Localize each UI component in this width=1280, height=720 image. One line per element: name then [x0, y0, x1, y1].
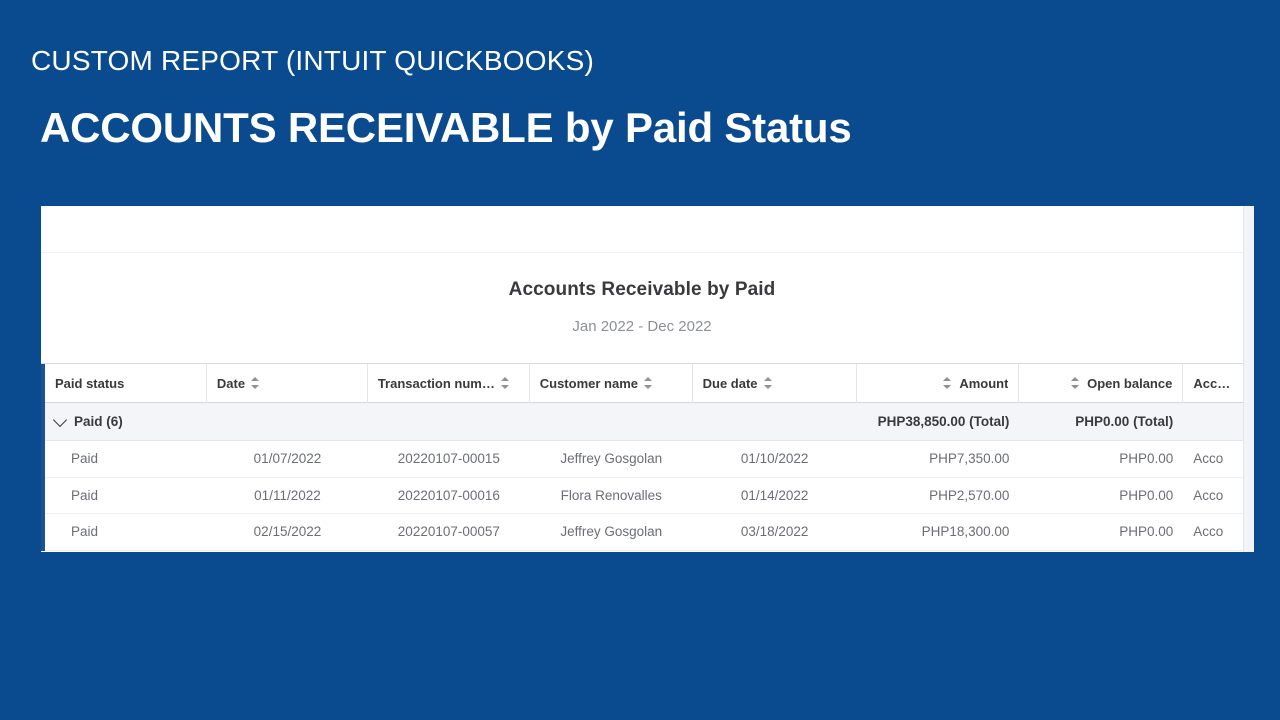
group-toggle[interactable]: Paid (6): [45, 403, 207, 441]
cell-account: Acco: [1183, 514, 1243, 551]
report-title: Accounts Receivable by Paid: [41, 279, 1243, 301]
sort-icon[interactable]: [644, 376, 653, 390]
cell-date: 01/11/2022: [207, 477, 368, 514]
frozen-column-divider: [41, 364, 45, 551]
chevron-down-icon: [53, 412, 67, 426]
cell-customer-name[interactable]: Jeffrey Gosgolan: [530, 441, 693, 478]
column-header-customer-name[interactable]: Customer name: [530, 364, 693, 403]
column-header-label: Amount: [959, 376, 1008, 391]
report-header: Accounts Receivable by Paid Jan 2022 - D…: [41, 253, 1243, 363]
cell-amount: PHP18,300.00: [857, 514, 1020, 551]
group-cell-customer-name: [530, 403, 693, 441]
sort-icon[interactable]: [943, 376, 952, 390]
page-title: ACCOUNTS RECEIVABLE by Paid Status: [40, 104, 852, 152]
group-cell-due-date: [693, 403, 857, 441]
column-header-label: Transaction num…: [378, 376, 495, 391]
column-header-label: Due date: [703, 376, 758, 391]
column-header-open-balance[interactable]: Open balance: [1019, 364, 1183, 403]
cell-paid-status: Paid: [45, 477, 207, 514]
cell-customer-name[interactable]: Jeffrey Gosgolan: [530, 514, 693, 551]
page-title-rest: by Paid Status: [553, 104, 851, 151]
table-row[interactable]: Paid 01/07/2022 20220107-00015 Jeffrey G…: [41, 441, 1243, 478]
group-cell-date: [207, 403, 368, 441]
group-cell-transaction-num: [368, 403, 530, 441]
column-header-transaction-num[interactable]: Transaction num…: [368, 364, 530, 403]
cell-open-balance: PHP0.00: [1019, 514, 1183, 551]
column-header-label: Open balance: [1087, 376, 1172, 391]
column-header-label: Date: [217, 376, 245, 391]
sort-icon[interactable]: [251, 376, 260, 390]
table-header-row: Paid status Date Transaction num… Custom…: [41, 364, 1243, 403]
table-row[interactable]: Paid 01/11/2022 20220107-00016 Flora Ren…: [41, 478, 1243, 515]
cell-paid-status: Paid: [45, 514, 207, 551]
page-title-emphasis: ACCOUNTS RECEIVABLE: [40, 104, 553, 151]
column-header-paid-status[interactable]: Paid status: [45, 364, 207, 403]
report-period: Jan 2022 - Dec 2022: [41, 318, 1243, 335]
report-table: Paid status Date Transaction num… Custom…: [41, 363, 1243, 551]
cell-transaction-num[interactable]: 20220107-00057: [368, 514, 530, 551]
cell-due-date: 01/10/2022: [693, 441, 857, 478]
table-row[interactable]: Paid 02/15/2022 20220107-00057 Jeffrey G…: [41, 514, 1243, 551]
column-header-account[interactable]: Account: [1183, 364, 1243, 403]
column-header-label: Account: [1193, 376, 1233, 391]
column-header-label: Paid status: [55, 376, 124, 391]
column-header-amount[interactable]: Amount: [857, 364, 1020, 403]
column-header-due-date[interactable]: Due date: [693, 364, 857, 403]
cell-account: Acco: [1183, 441, 1243, 478]
group-label: Paid (6): [74, 414, 123, 429]
cell-amount: PHP7,350.00: [857, 441, 1020, 478]
report-toolbar: [41, 206, 1243, 253]
group-total-amount: PHP38,850.00 (Total): [857, 403, 1020, 441]
sort-icon[interactable]: [501, 376, 510, 390]
cell-date: 02/15/2022: [207, 514, 368, 551]
slide-eyebrow: CUSTOM REPORT (INTUIT QUICKBOOKS): [31, 45, 594, 77]
vertical-scrollbar[interactable]: [1243, 206, 1254, 552]
cell-account: Acco: [1183, 477, 1243, 514]
scrollbar-thumb[interactable]: [1245, 208, 1253, 358]
cell-open-balance: PHP0.00: [1019, 441, 1183, 478]
group-cell-account: [1183, 403, 1243, 441]
slide-root: CUSTOM REPORT (INTUIT QUICKBOOKS) ACCOUN…: [0, 0, 1280, 720]
group-row-paid[interactable]: Paid (6) PHP38,850.00 (Total) PHP0.00 (T…: [41, 403, 1243, 441]
column-header-date[interactable]: Date: [207, 364, 368, 403]
cell-customer-name[interactable]: Flora Renovalles: [530, 477, 693, 514]
group-total-open-balance: PHP0.00 (Total): [1019, 403, 1183, 441]
cell-due-date: 03/18/2022: [693, 514, 857, 551]
report-card: Accounts Receivable by Paid Jan 2022 - D…: [41, 206, 1243, 552]
cell-amount: PHP2,570.00: [857, 477, 1020, 514]
cell-paid-status: Paid: [45, 441, 207, 478]
cell-date: 01/07/2022: [207, 441, 368, 478]
cell-due-date: 01/14/2022: [693, 477, 857, 514]
sort-icon[interactable]: [1071, 376, 1080, 390]
cell-transaction-num[interactable]: 20220107-00016: [368, 477, 530, 514]
cell-open-balance: PHP0.00: [1019, 477, 1183, 514]
column-header-label: Customer name: [540, 376, 638, 391]
cell-transaction-num[interactable]: 20220107-00015: [368, 441, 530, 478]
sort-icon[interactable]: [764, 376, 773, 390]
